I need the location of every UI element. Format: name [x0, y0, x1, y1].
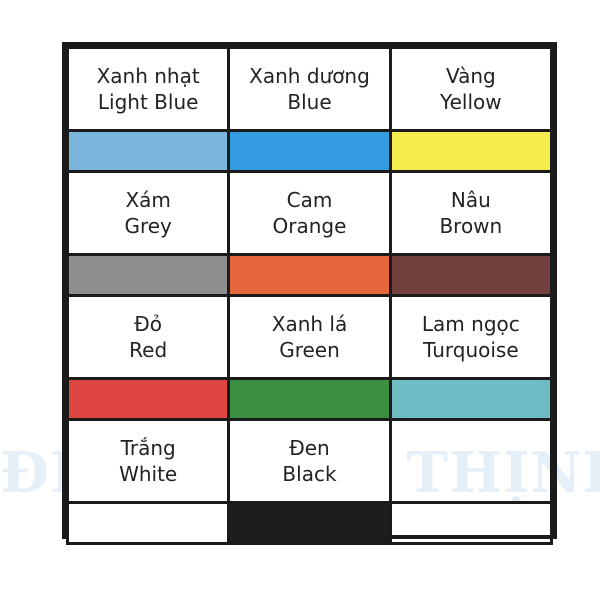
color-name-en: Black	[230, 461, 388, 487]
color-label-cell-turquoise: Lam ngọc Turquoise	[390, 296, 551, 379]
color-swatch	[69, 256, 227, 294]
color-swatch	[69, 504, 227, 542]
color-name-vi: Lam ngọc	[392, 311, 550, 337]
empty-cell	[390, 503, 551, 544]
color-name-en: Red	[69, 337, 227, 363]
color-label-cell-brown: Nâu Brown	[390, 172, 551, 255]
color-swatch	[230, 380, 388, 418]
swatch-row	[68, 379, 552, 420]
color-reference-table: Xanh nhạt Light Blue Xanh dương Blue Vàn…	[62, 42, 557, 539]
color-label-cell-grey: Xám Grey	[68, 172, 229, 255]
color-name-en: Grey	[69, 213, 227, 239]
label-row: Đỏ Red Xanh lá Green Lam ngọc Turquoise	[68, 296, 552, 379]
color-swatch	[392, 132, 550, 170]
color-name-vi: Vàng	[392, 63, 550, 89]
label-row: Xám Grey Cam Orange Nâu Brown	[68, 172, 552, 255]
color-swatch	[230, 504, 388, 542]
color-swatch-cell-red	[68, 379, 229, 420]
color-name-vi: Xanh lá	[230, 311, 388, 337]
color-name-en: Turquoise	[392, 337, 550, 363]
label-row: Xanh nhạt Light Blue Xanh dương Blue Vàn…	[68, 48, 552, 131]
swatch-row	[68, 503, 552, 544]
color-swatch-cell-green	[229, 379, 390, 420]
color-name-en: Orange	[230, 213, 388, 239]
color-swatch-cell-yellow	[390, 131, 551, 172]
color-label-cell-blue: Xanh dương Blue	[229, 48, 390, 131]
color-name-en: Blue	[230, 89, 388, 115]
color-swatch	[392, 256, 550, 294]
color-swatch-cell-grey	[68, 255, 229, 296]
color-label-cell-yellow: Vàng Yellow	[390, 48, 551, 131]
color-name-vi: Xanh dương	[230, 63, 388, 89]
color-name-en: Yellow	[392, 89, 550, 115]
swatch-row	[68, 255, 552, 296]
color-label-cell-red: Đỏ Red	[68, 296, 229, 379]
color-name-vi: Đen	[230, 435, 388, 461]
color-label-cell-light-blue: Xanh nhạt Light Blue	[68, 48, 229, 131]
color-name-en: Green	[230, 337, 388, 363]
color-label-cell-black: Đen Black	[229, 420, 390, 503]
color-name-vi: Nâu	[392, 187, 550, 213]
color-swatch	[230, 132, 388, 170]
color-swatch-cell-black	[229, 503, 390, 544]
color-swatch-cell-light-blue	[68, 131, 229, 172]
color-swatch	[230, 256, 388, 294]
color-name-vi: Xanh nhạt	[69, 63, 227, 89]
color-swatch-cell-orange	[229, 255, 390, 296]
color-swatch	[69, 132, 227, 170]
empty-cell	[390, 420, 551, 503]
color-name-en: Brown	[392, 213, 550, 239]
color-name-vi: Đỏ	[69, 311, 227, 337]
swatch-row	[68, 131, 552, 172]
color-name-en: White	[69, 461, 227, 487]
color-label-cell-green: Xanh lá Green	[229, 296, 390, 379]
color-label-cell-orange: Cam Orange	[229, 172, 390, 255]
color-swatch	[392, 380, 550, 418]
color-swatch-cell-blue	[229, 131, 390, 172]
color-swatch-cell-white	[68, 503, 229, 544]
color-swatch	[69, 380, 227, 418]
label-row: Trắng White Đen Black	[68, 420, 552, 503]
color-name-vi: Cam	[230, 187, 388, 213]
color-name-vi: Trắng	[69, 435, 227, 461]
color-chart-page: ĐIỆN PHÚC THỊNH Xanh nhạt Light Blue Xan…	[0, 0, 600, 592]
color-swatch-cell-turquoise	[390, 379, 551, 420]
color-name-en: Light Blue	[69, 89, 227, 115]
color-name-vi: Xám	[69, 187, 227, 213]
color-label-cell-white: Trắng White	[68, 420, 229, 503]
color-swatch-cell-brown	[390, 255, 551, 296]
